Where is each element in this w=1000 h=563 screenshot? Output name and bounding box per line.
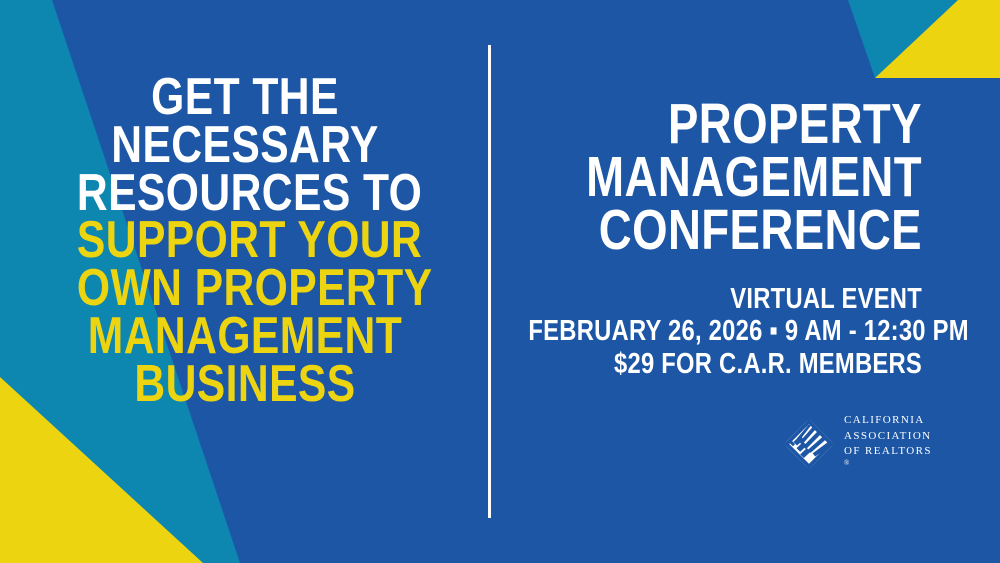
logo-line-2: ASSOCIATION (844, 429, 932, 444)
event-price: $29 FOR C.A.R. MEMBERS (528, 348, 922, 380)
headline-line-2: NECESSARY (77, 122, 413, 170)
headline-line-3: RESOURCES TO (77, 170, 413, 218)
logo-line-1: CALIFORNIA (844, 413, 932, 428)
car-logo: CALIFORNIA ASSOCIATION OF REALTORS® (783, 415, 933, 473)
car-logo-wordmark: CALIFORNIA ASSOCIATION OF REALTORS® (844, 413, 932, 474)
headline-line-4: SUPPORT YOUR (77, 217, 413, 265)
event-details: VIRTUAL EVENT FEBRUARY 26, 2026 ▪ 9 AM -… (442, 283, 922, 380)
event-info-block: PROPERTY MANAGEMENT CONFERENCE VIRTUAL E… (442, 98, 922, 380)
headline-line-6: MANAGEMENT (77, 313, 413, 361)
event-title-line-1: PROPERTY (538, 98, 922, 151)
event-date-time: FEBRUARY 26, 2026 ▪ 9 AM - 12:30 PM (528, 315, 922, 347)
headline-line-1: GET THE (77, 74, 413, 122)
conference-promo-banner: GET THE NECESSARY RESOURCES TO SUPPORT Y… (0, 0, 1000, 563)
event-title-line-2: MANAGEMENT (538, 151, 922, 204)
event-title-line-3: CONFERENCE (538, 204, 922, 257)
teal-top-right-triangle (848, 0, 958, 78)
car-diamond-beacon-logo-icon (783, 418, 835, 470)
headline-line-5: OWN PROPERTY (77, 265, 413, 313)
yellow-top-right-triangle (875, 0, 1000, 78)
event-format: VIRTUAL EVENT (528, 283, 922, 315)
logo-line-3: OF REALTORS® (844, 444, 932, 475)
headline-block: GET THE NECESSARY RESOURCES TO SUPPORT Y… (40, 74, 450, 409)
registered-trademark-icon: ® (844, 459, 849, 467)
headline-line-7: BUSINESS (77, 361, 413, 409)
